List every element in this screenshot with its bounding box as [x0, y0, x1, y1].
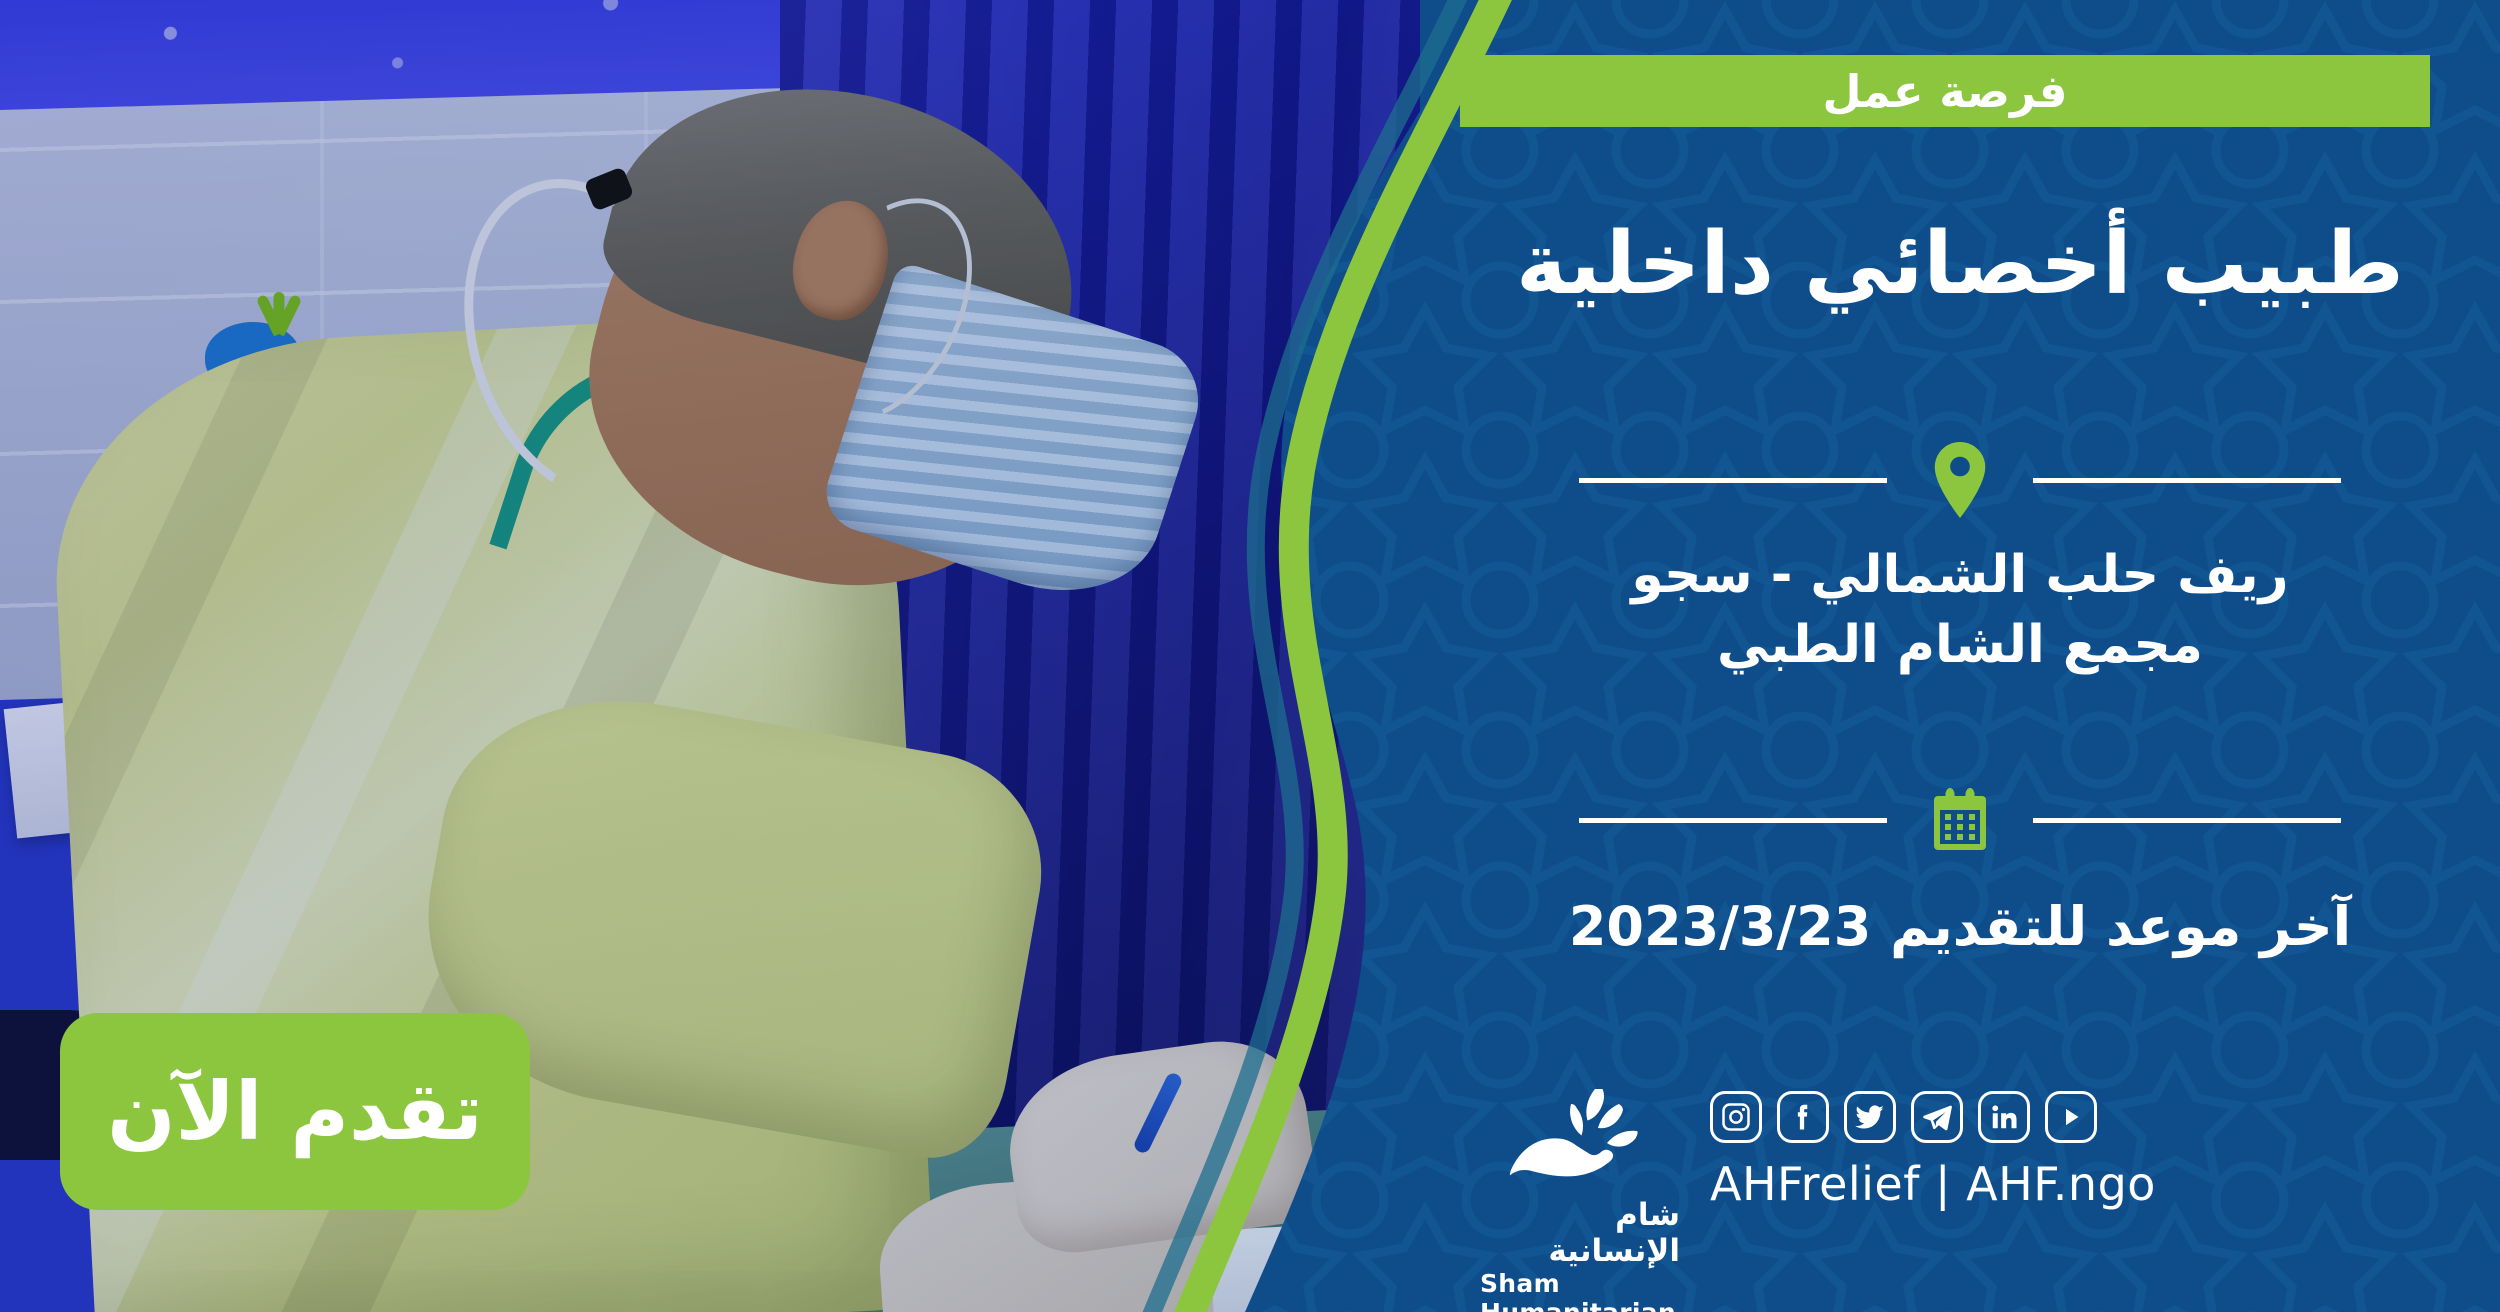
- divider-rule-left: [1579, 478, 1887, 483]
- facebook-icon[interactable]: [1777, 1091, 1829, 1143]
- apply-now-label: تقدم الآن: [107, 1065, 483, 1158]
- logo-name-english: Sham Humanitarian: [1480, 1269, 1680, 1312]
- location-line-1: ريف حلب الشمالي - سجو: [1440, 540, 2480, 610]
- job-opportunity-poster: فرصة عمل طبيب أخصائي داخلية ريف حلب الشم…: [0, 0, 2500, 1312]
- social-and-handles: AHFrelief | AHF.ngo: [1710, 1085, 2156, 1211]
- calendar-icon: [1915, 788, 2005, 852]
- footer: شام الإنسانية Sham Humanitarian: [1440, 1085, 2480, 1285]
- youtube-icon[interactable]: [2045, 1091, 2097, 1143]
- ribbon-label: فرصة عمل: [1823, 65, 2068, 118]
- ribbon-banner: فرصة عمل: [1460, 55, 2430, 127]
- location-divider-row: [1440, 440, 2480, 520]
- apply-now-button[interactable]: تقدم الآن: [60, 1013, 530, 1210]
- divider-rule-right-2: [2033, 818, 2341, 823]
- organization-logo: شام الإنسانية Sham Humanitarian: [1480, 1085, 1680, 1312]
- social-handles: AHFrelief | AHF.ngo: [1710, 1157, 2156, 1211]
- divider-rule-right: [2033, 478, 2341, 483]
- social-icons-row: [1710, 1091, 2156, 1143]
- linkedin-icon[interactable]: [1978, 1091, 2030, 1143]
- hand-with-leaves-logo-icon: [1505, 1085, 1655, 1195]
- twitter-icon[interactable]: [1844, 1091, 1896, 1143]
- deadline-text: آخر موعد للتقديم 2023/3/23: [1440, 895, 2480, 958]
- telegram-icon[interactable]: [1911, 1091, 1963, 1143]
- deadline-divider-row: [1440, 780, 2480, 860]
- map-pin-icon: [1915, 442, 2005, 518]
- divider-rule-left-2: [1579, 818, 1887, 823]
- instagram-icon[interactable]: [1710, 1091, 1762, 1143]
- poster-content: فرصة عمل طبيب أخصائي داخلية ريف حلب الشم…: [1440, 0, 2500, 1312]
- location-text: ريف حلب الشمالي - سجو مجمع الشام الطبي: [1440, 540, 2480, 680]
- location-line-2: مجمع الشام الطبي: [1440, 610, 2480, 680]
- job-title: طبيب أخصائي داخلية: [1440, 215, 2480, 314]
- logo-name-arabic: شام الإنسانية: [1480, 1197, 1680, 1269]
